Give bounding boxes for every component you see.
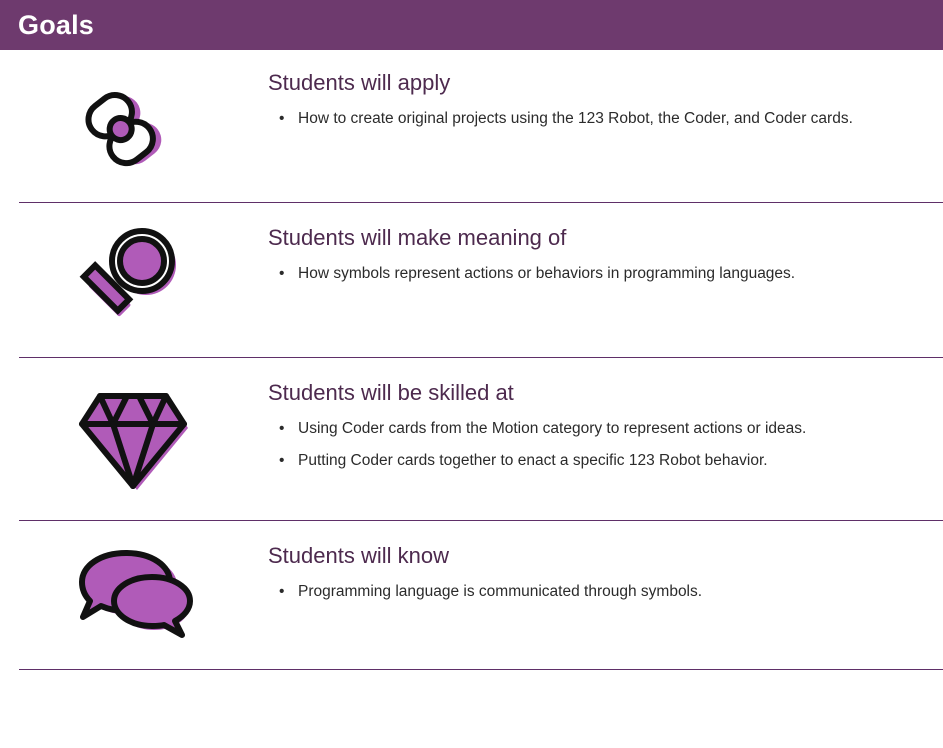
goal-bullet: •Using Coder cards from the Motion categ… xyxy=(296,416,895,441)
goal-bullet: •Programming language is communicated th… xyxy=(296,579,895,604)
speech-bubbles-icon xyxy=(70,543,198,643)
goals-header-bar: Goals xyxy=(0,0,943,50)
bullet-marker-icon: • xyxy=(279,448,284,473)
goal-item-make-meaning-of: Students will make meaning of •How symbo… xyxy=(0,203,943,357)
goal-bullet-text: Putting Coder cards together to enact a … xyxy=(298,452,768,469)
magnifying-glass-icon xyxy=(74,225,194,333)
goal-heading: Students will be skilled at xyxy=(268,380,895,406)
goal-bullet: •How to create original projects using t… xyxy=(296,106,895,131)
section-divider xyxy=(19,669,943,670)
goal-bullet-list: •Programming language is communicated th… xyxy=(268,579,895,604)
goal-icon-cell xyxy=(0,543,268,643)
goal-content-cell: Students will make meaning of •How symbo… xyxy=(268,225,943,287)
goal-content-cell: Students will apply •How to create origi… xyxy=(268,70,943,132)
goal-icon-cell xyxy=(0,70,268,180)
goal-content-cell: Students will know •Programming language… xyxy=(268,543,943,605)
goal-bullet-text: Programming language is communicated thr… xyxy=(298,583,702,600)
goal-heading: Students will apply xyxy=(268,70,895,96)
goal-icon-cell xyxy=(0,380,268,496)
bullet-marker-icon: • xyxy=(279,261,284,286)
bullet-marker-icon: • xyxy=(279,579,284,604)
goal-heading: Students will make meaning of xyxy=(268,225,895,251)
goal-bullet-text: Using Coder cards from the Motion catego… xyxy=(298,420,806,437)
goal-bullet-text: How symbols represent actions or behavio… xyxy=(298,265,795,282)
goals-list: Students will apply •How to create origi… xyxy=(0,50,943,670)
bullet-marker-icon: • xyxy=(279,416,284,441)
diamond-gem-icon xyxy=(72,380,196,496)
goal-bullet: •Putting Coder cards together to enact a… xyxy=(296,448,895,473)
goal-bullet-list: •Using Coder cards from the Motion categ… xyxy=(268,416,895,472)
goal-item-skilled-at: Students will be skilled at •Using Coder… xyxy=(0,358,943,520)
goal-item-apply: Students will apply •How to create origi… xyxy=(0,50,943,202)
goal-item-know: Students will know •Programming language… xyxy=(0,521,943,669)
goal-bullet-text: How to create original projects using th… xyxy=(298,110,853,127)
goal-icon-cell xyxy=(0,225,268,333)
goal-bullet-list: •How symbols represent actions or behavi… xyxy=(268,261,895,286)
goal-bullet-list: •How to create original projects using t… xyxy=(268,106,895,131)
chain-link-icon xyxy=(74,70,194,180)
bullet-marker-icon: • xyxy=(279,106,284,131)
page-title: Goals xyxy=(18,12,94,39)
goal-bullet: •How symbols represent actions or behavi… xyxy=(296,261,895,286)
goal-content-cell: Students will be skilled at •Using Coder… xyxy=(268,380,943,473)
goal-heading: Students will know xyxy=(268,543,895,569)
